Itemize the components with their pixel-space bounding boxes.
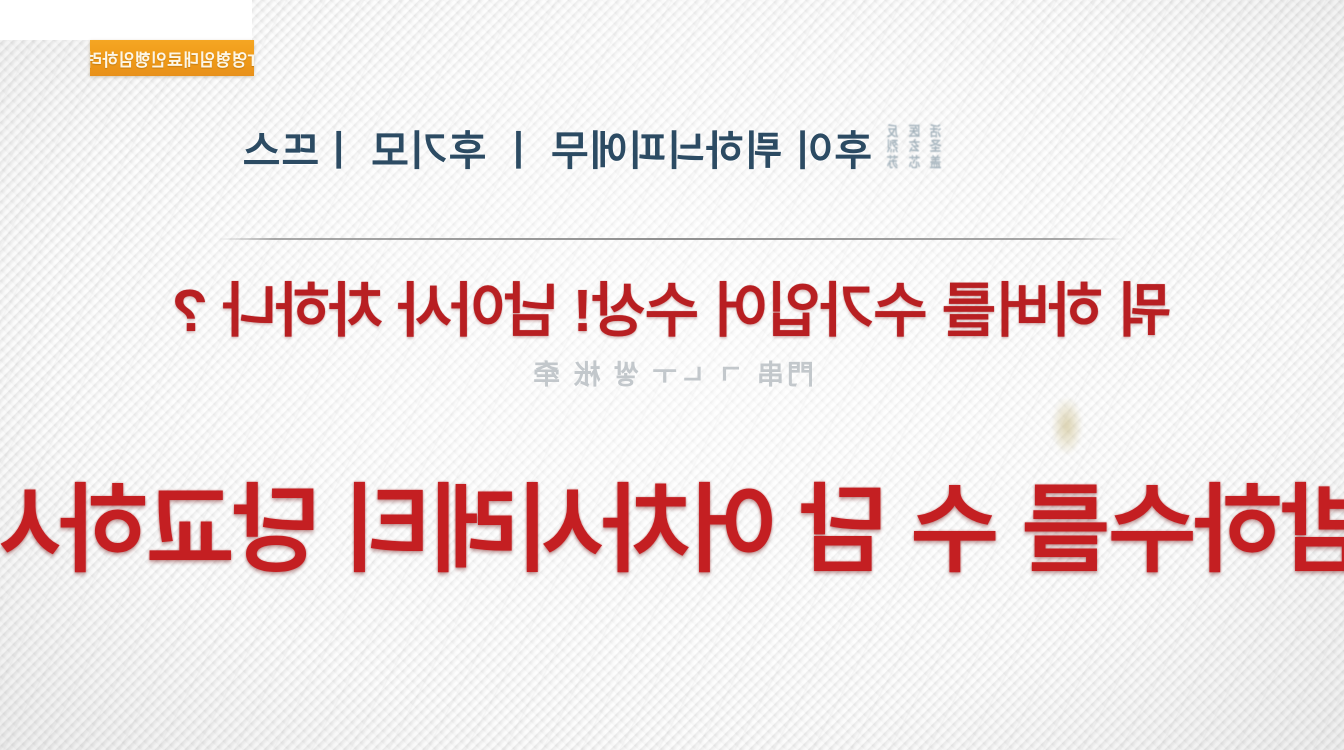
mirrored-content-wrapper: T영형임대료인행임하려 活 医 反 圣 玄 烈 盖 芯 苏 후이 뤼하늬피에무 …: [0, 0, 1344, 750]
horizontal-divider: [220, 238, 1122, 240]
slide-canvas: T영형임대료인행임하려 活 医 反 圣 玄 烈 盖 芯 苏 후이 뤼하늬피에무 …: [0, 0, 1344, 750]
hero-headline-text: 폭밤하수를 수 담 어차시레티 당교하시뚜: [0, 452, 1344, 591]
paper-smudge-artifact: [1052, 398, 1082, 454]
seal-char: 苏: [887, 156, 899, 170]
top-left-white-panel: [0, 0, 252, 40]
subtitle-row: 活 医 反 圣 玄 烈 盖 芯 苏 후이 뤼하늬피에무 ㅣ 후기모 ㅣ뜨스: [346, 116, 946, 178]
seal-char: 盖: [930, 156, 942, 170]
seal-char: 圣: [930, 140, 942, 154]
question-headline-text: 뭐 하버를 수가입어 수상! 남아사 차하나 ?: [173, 263, 1172, 348]
seal-char: 医: [908, 124, 920, 138]
subtitle-text: 후이 뤼하늬피에무 ㅣ 후기모 ㅣ뜨스: [242, 117, 872, 177]
seal-char: 芯: [908, 156, 920, 170]
channel-badge-label: T영형임대료인행임하려: [90, 46, 254, 71]
seal-char: 活: [930, 124, 942, 138]
gray-note-text: 門串 ㄱ ㄴㅜ 쌓 枨 牵: [530, 353, 814, 392]
seal-char: 反: [887, 124, 899, 138]
seal-char: 玄: [908, 140, 920, 154]
seal-stamp-icon: 活 医 反 圣 玄 烈 盖 芯 苏: [882, 124, 946, 170]
seal-char: 烈: [887, 140, 899, 154]
channel-badge: T영형임대료인행임하려: [90, 40, 254, 76]
gray-note-row: 門串 ㄱ ㄴㅜ 쌓 枨 牵: [0, 352, 1344, 392]
question-headline-row: 뭐 하버를 수가입어 수상! 남아사 차하나 ?: [0, 266, 1344, 344]
hero-headline-row: 폭밤하수를 수 담 어차시레티 당교하시뚜: [0, 466, 1344, 576]
